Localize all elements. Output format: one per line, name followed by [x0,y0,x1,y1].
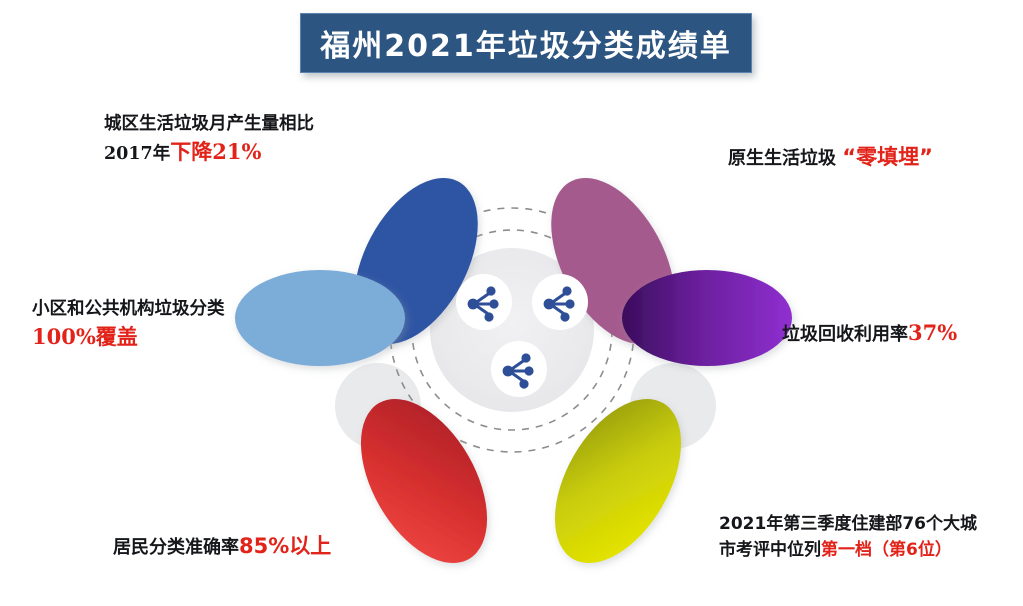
callout-reduction-line2-plain: 2017年 [104,144,170,164]
callout-landfill-plain: 原生生活垃圾 [728,148,842,169]
petal-lightblue [235,270,405,366]
page-title: 福州2021年垃圾分类成绩单 [320,21,732,65]
callout-coverage-line1: 小区和公共机构垃圾分类 [32,297,225,322]
callout-coverage-highlight: 100%覆盖 [32,322,225,352]
callout-ranking: 2021年第三季度住建部76个大城 市考评中位列第一档（第6位） [719,512,977,563]
callout-recycle-highlight: 37% [908,320,957,345]
icon-circle-bottom-center [491,341,547,397]
callout-ranking-line2-plain: 市考评中位列 [719,540,821,560]
icon-circle-top-left [456,274,512,330]
callout-accuracy-highlight: 85%以上 [239,534,331,558]
callout-reduction-line1: 城区生活垃圾月产生量相比 [104,112,314,137]
title-banner: 福州2021年垃圾分类成绩单 [300,13,752,73]
callout-reduction-highlight: 下降21% [170,139,261,164]
callout-reduction: 城区生活垃圾月产生量相比 2017年下降21% [104,112,314,168]
petal-purple [622,270,792,366]
callout-recycle-plain: 垃圾回收利用率 [782,324,908,345]
callout-accuracy: 居民分类准确率85%以上 [113,531,331,561]
callout-accuracy-plain: 居民分类准确率 [113,537,239,558]
callout-ranking-highlight: 第一档（第6位） [821,540,952,560]
callout-landfill: 原生生活垃圾 “零填埋” [728,142,933,172]
callout-ranking-line1: 2021年第三季度住建部76个大城 [719,512,977,538]
callout-landfill-highlight: “零填埋” [842,145,933,169]
callout-coverage: 小区和公共机构垃圾分类 100%覆盖 [32,297,225,353]
icon-circle-top-right [532,274,588,330]
callout-recycle: 垃圾回收利用率37% [782,318,957,348]
